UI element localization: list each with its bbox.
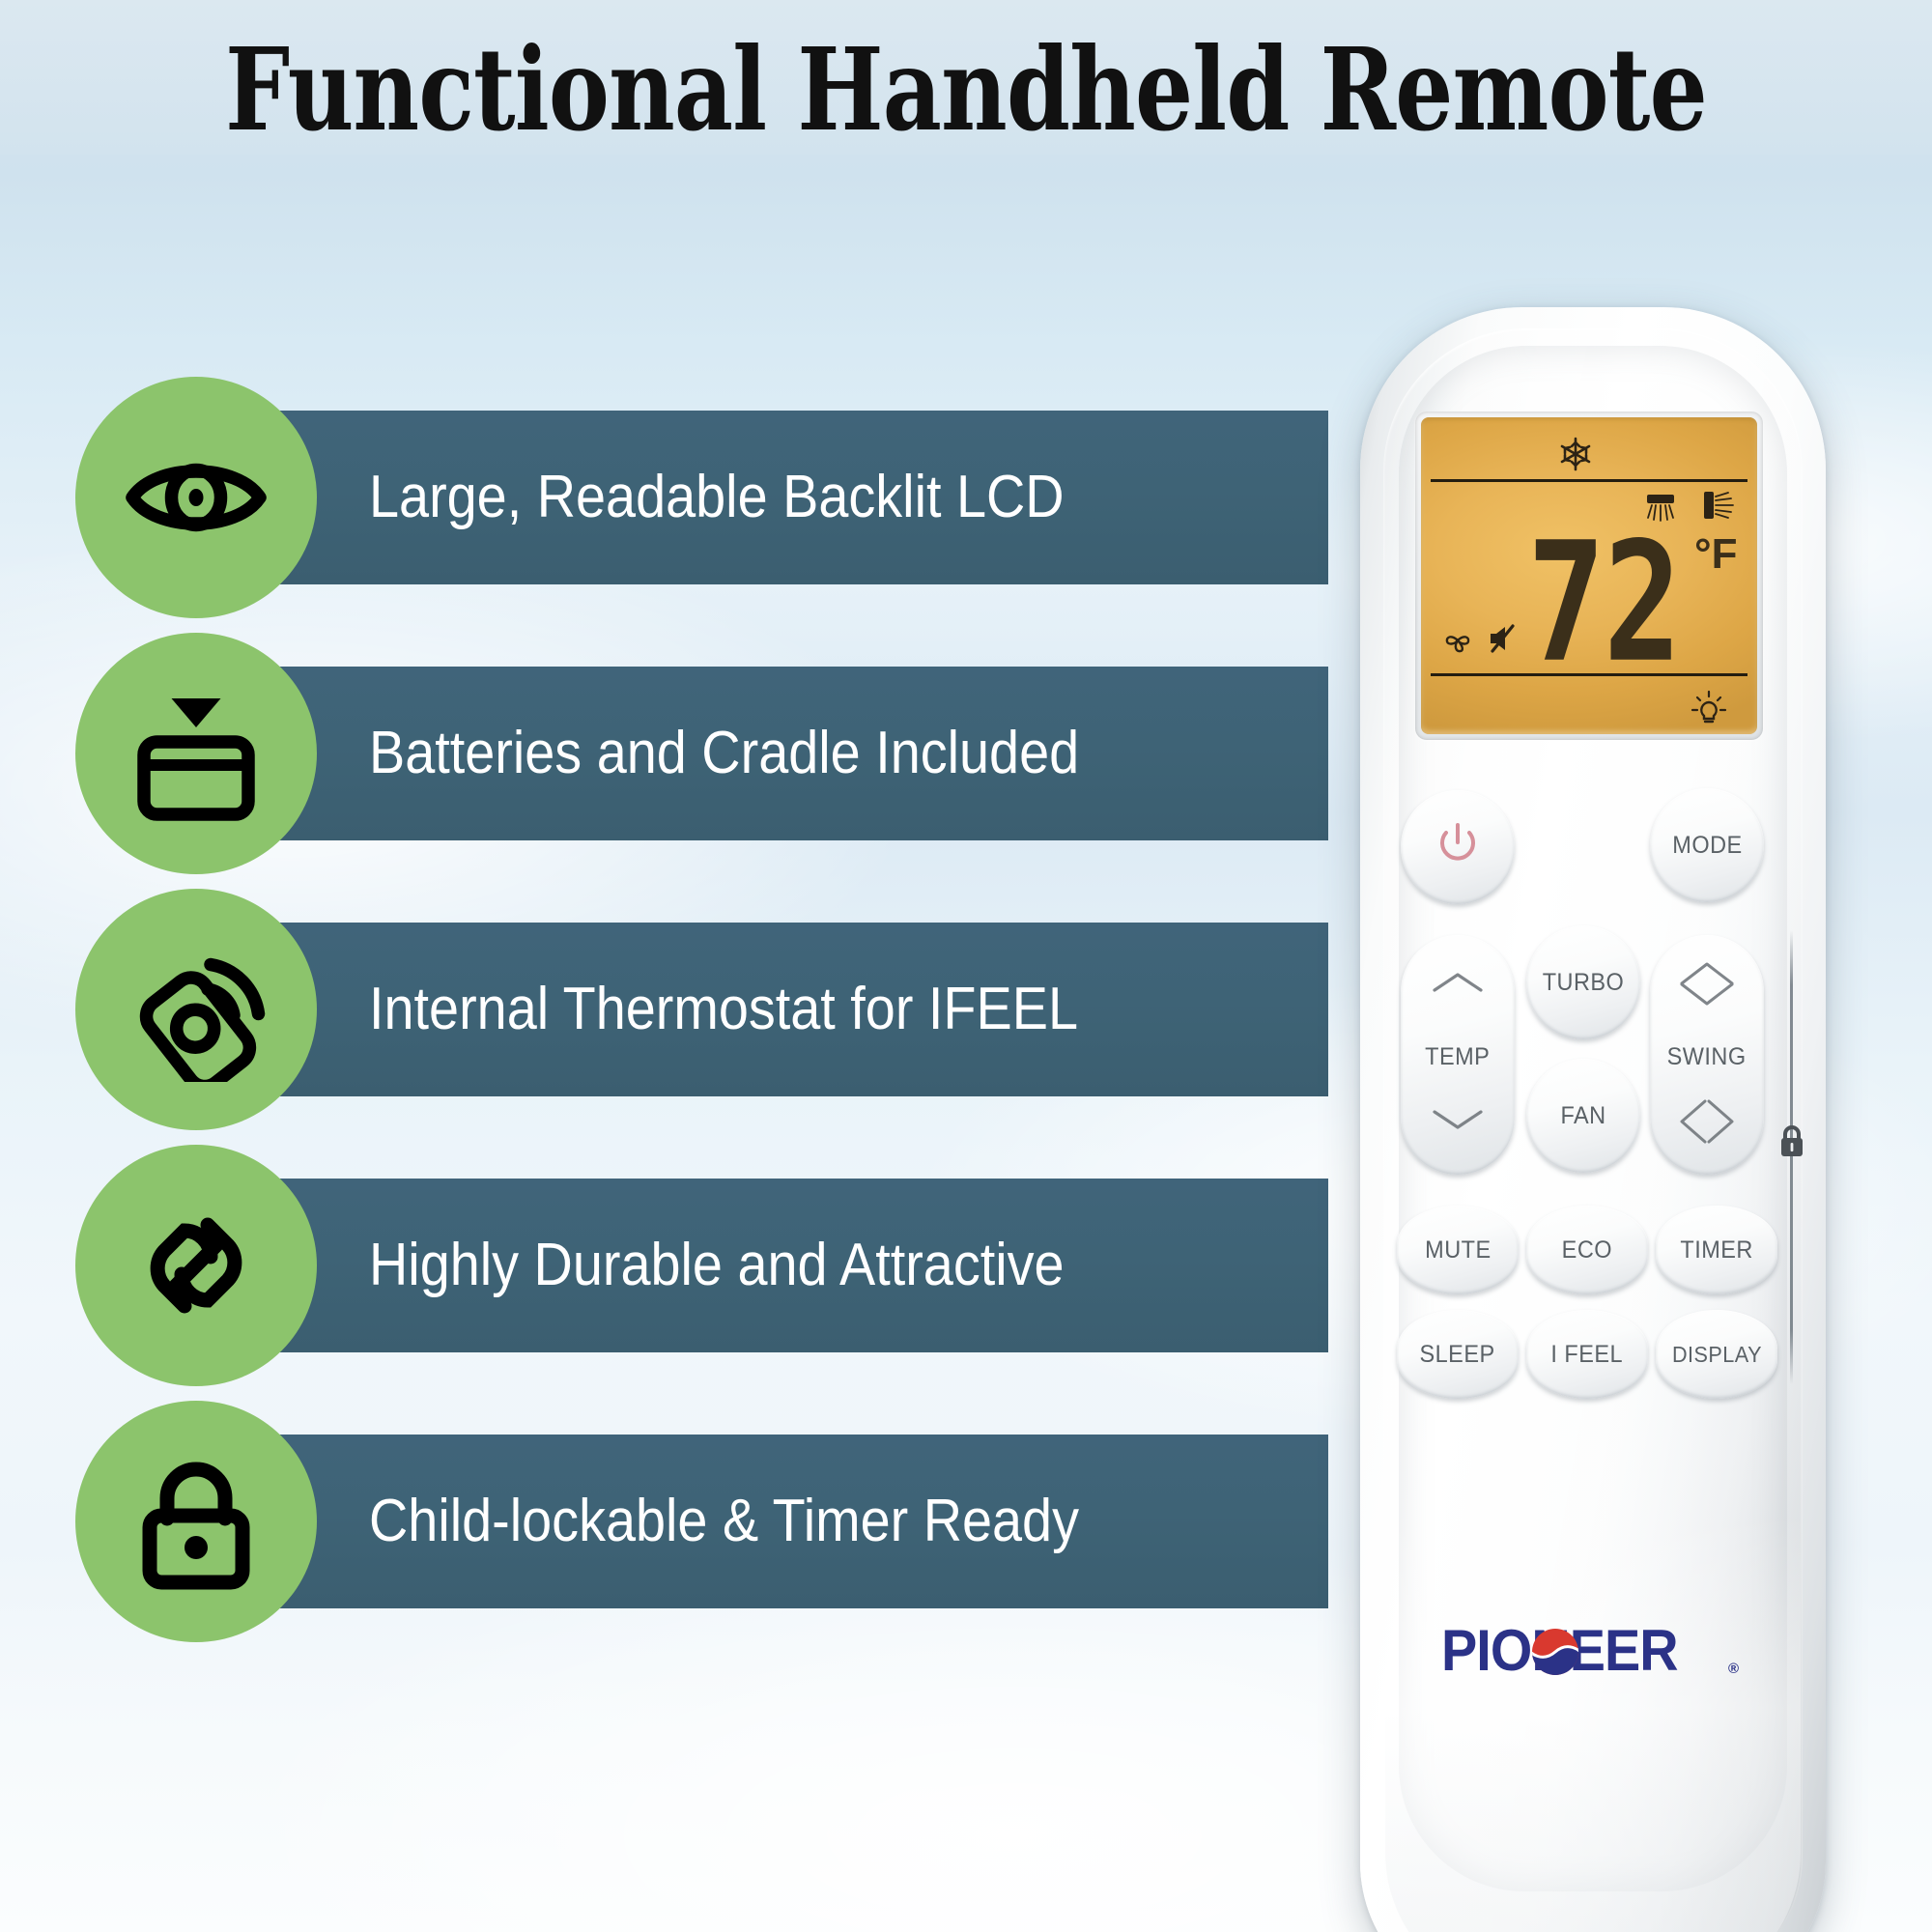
mute-button[interactable]: MUTE xyxy=(1397,1206,1519,1294)
fan-button-label: FAN xyxy=(1560,1102,1605,1130)
lcd-bezel: 72 °F xyxy=(1415,412,1763,740)
turbo-button[interactable]: TURBO xyxy=(1526,925,1640,1039)
lcd-divider-top xyxy=(1431,479,1747,482)
mode-button-label: MODE xyxy=(1672,832,1742,860)
mute-button-label: MUTE xyxy=(1425,1236,1491,1264)
power-button[interactable] xyxy=(1401,790,1515,904)
snowflake-cool-icon xyxy=(1556,435,1595,478)
timer-button-label: TIMER xyxy=(1680,1236,1752,1264)
swing-left-right-diamond-icon xyxy=(1676,1097,1738,1152)
backlight-bulb-icon xyxy=(1690,690,1728,733)
eco-button[interactable]: ECO xyxy=(1526,1206,1648,1294)
fan-icon xyxy=(1442,625,1473,661)
feature-label: Internal Thermostat for IFEEL xyxy=(369,980,1078,1039)
feature-icon-badge xyxy=(75,889,317,1130)
temp-button-label: TEMP xyxy=(1425,1043,1490,1071)
feature-row: Highly Durable and Attractive xyxy=(0,1135,1352,1396)
page-title: Functional Handheld Remote xyxy=(193,33,1739,147)
swing-button[interactable]: SWING xyxy=(1650,935,1764,1175)
lcd-screen: 72 °F xyxy=(1421,417,1757,734)
feature-label: Child-lockable & Timer Ready xyxy=(369,1492,1079,1551)
swing-button-label: SWING xyxy=(1667,1043,1747,1071)
registered-mark: ® xyxy=(1728,1661,1739,1677)
swing-vertical-icon xyxy=(1701,488,1736,529)
ifeel-button-label: I FEEL xyxy=(1551,1341,1624,1369)
timer-button[interactable]: TIMER xyxy=(1656,1206,1777,1294)
temp-button[interactable]: TEMP xyxy=(1401,935,1515,1175)
poster-canvas: Functional Handheld Remote Large, Readab… xyxy=(0,0,1932,1932)
feature-row: Internal Thermostat for IFEEL xyxy=(0,879,1352,1140)
chevron-down-icon xyxy=(1431,1107,1485,1139)
feature-bar: Internal Thermostat for IFEEL xyxy=(275,923,1328,1096)
feature-label: Batteries and Cradle Included xyxy=(369,724,1079,783)
feature-label: Highly Durable and Attractive xyxy=(369,1236,1065,1295)
lcd-temperature-unit: °F xyxy=(1694,533,1737,576)
feature-row: Child-lockable & Timer Ready xyxy=(0,1391,1352,1652)
feature-icon-badge xyxy=(75,1401,317,1642)
ifeel-button[interactable]: I FEEL xyxy=(1526,1310,1648,1399)
box-download-icon xyxy=(124,681,269,826)
feature-label: Large, Readable Backlit LCD xyxy=(369,468,1065,527)
turbo-button-label: TURBO xyxy=(1543,969,1625,997)
feature-bar: Large, Readable Backlit LCD xyxy=(275,411,1328,584)
chevron-up-icon xyxy=(1431,970,1485,1002)
mode-button[interactable]: MODE xyxy=(1650,788,1764,902)
taeguk-icon xyxy=(1530,1627,1580,1677)
eye-icon xyxy=(124,425,269,570)
feature-icon-badge xyxy=(75,1145,317,1386)
lock-icon xyxy=(1776,1123,1807,1165)
feature-icon-badge xyxy=(75,633,317,874)
sleep-button[interactable]: SLEEP xyxy=(1397,1310,1519,1399)
feature-bar: Child-lockable & Timer Ready xyxy=(275,1435,1328,1608)
feature-bar: Batteries and Cradle Included xyxy=(275,667,1328,840)
pioneer-logo: PIONEER ® xyxy=(1441,1621,1731,1681)
display-button-label: DISPLAY xyxy=(1671,1342,1761,1368)
feature-row: Batteries and Cradle Included xyxy=(0,623,1352,884)
feature-bar: Highly Durable and Attractive xyxy=(275,1179,1328,1352)
lcd-temperature-value: 72 xyxy=(1527,522,1680,687)
sleep-button-label: SLEEP xyxy=(1420,1341,1495,1369)
remote-signal-icon xyxy=(124,937,269,1082)
remote-control: 72 °F MODE TEMP xyxy=(1360,307,1826,1932)
chain-link-icon xyxy=(124,1193,269,1338)
padlock-icon xyxy=(124,1449,269,1594)
feature-icon-badge xyxy=(75,377,317,618)
fan-button[interactable]: FAN xyxy=(1526,1059,1640,1173)
feature-row: Large, Readable Backlit LCD xyxy=(0,367,1352,628)
display-button[interactable]: DISPLAY xyxy=(1656,1310,1777,1399)
swing-up-diamond-icon xyxy=(1676,960,1738,1015)
eco-button-label: ECO xyxy=(1562,1236,1612,1264)
header-band: Functional Handheld Remote xyxy=(0,0,1932,155)
power-icon xyxy=(1433,819,1483,876)
mute-icon xyxy=(1487,622,1525,660)
